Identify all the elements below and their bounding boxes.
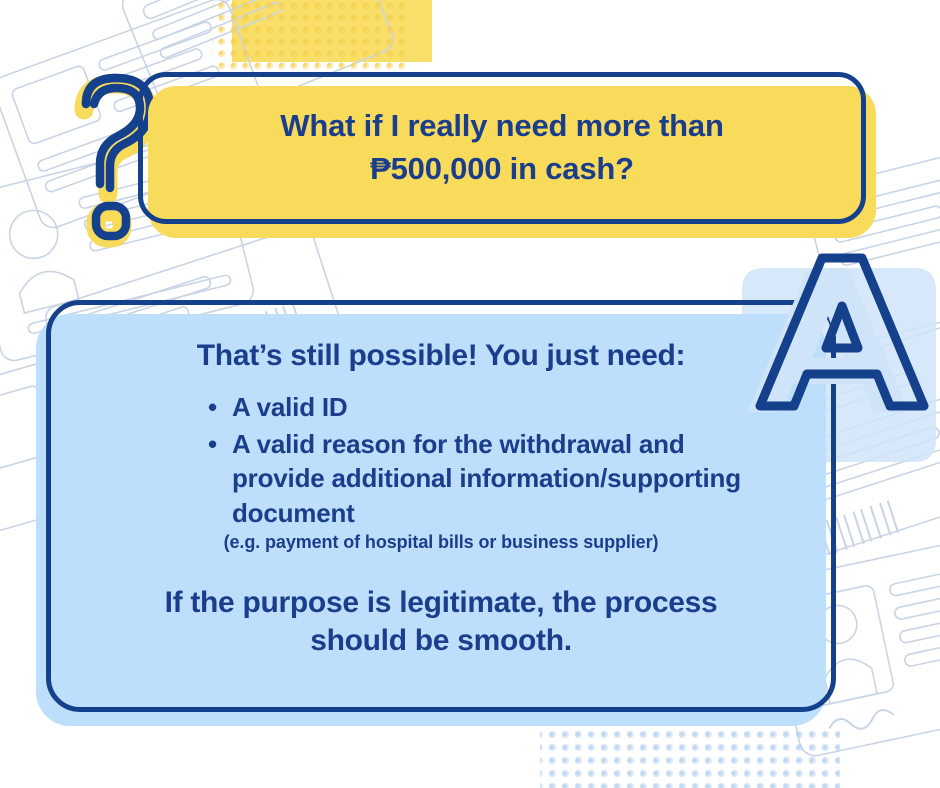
question-card: What if I really need more than ₱500,000… [138,72,866,224]
infographic-canvas: What if I really need more than ₱500,000… [0,0,940,788]
bullet-icon: • [208,390,217,425]
list-item: • A valid reason for the withdrawal and … [232,427,777,531]
requirements-list: • A valid ID • A valid reason for the wi… [102,390,780,530]
answer-closing-text: If the purpose is legitimate, the proces… [102,584,780,661]
letter-a-icon [744,252,940,412]
question-card-content: What if I really need more than ₱500,000… [138,72,866,224]
answer-card-content: That’s still possible! You just need: • … [46,300,836,712]
list-item-label: A valid reason for the withdrawal and pr… [232,429,741,528]
answer-note-text: (e.g. payment of hospital bills or busin… [102,532,780,554]
answer-card: That’s still possible! You just need: • … [46,300,836,712]
list-item-label: A valid ID [232,392,348,422]
question-text: What if I really need more than ₱500,000… [280,105,723,191]
list-item: • A valid ID [232,390,777,425]
answer-intro-text: That’s still possible! You just need: [102,338,780,374]
bullet-icon: • [208,427,217,462]
